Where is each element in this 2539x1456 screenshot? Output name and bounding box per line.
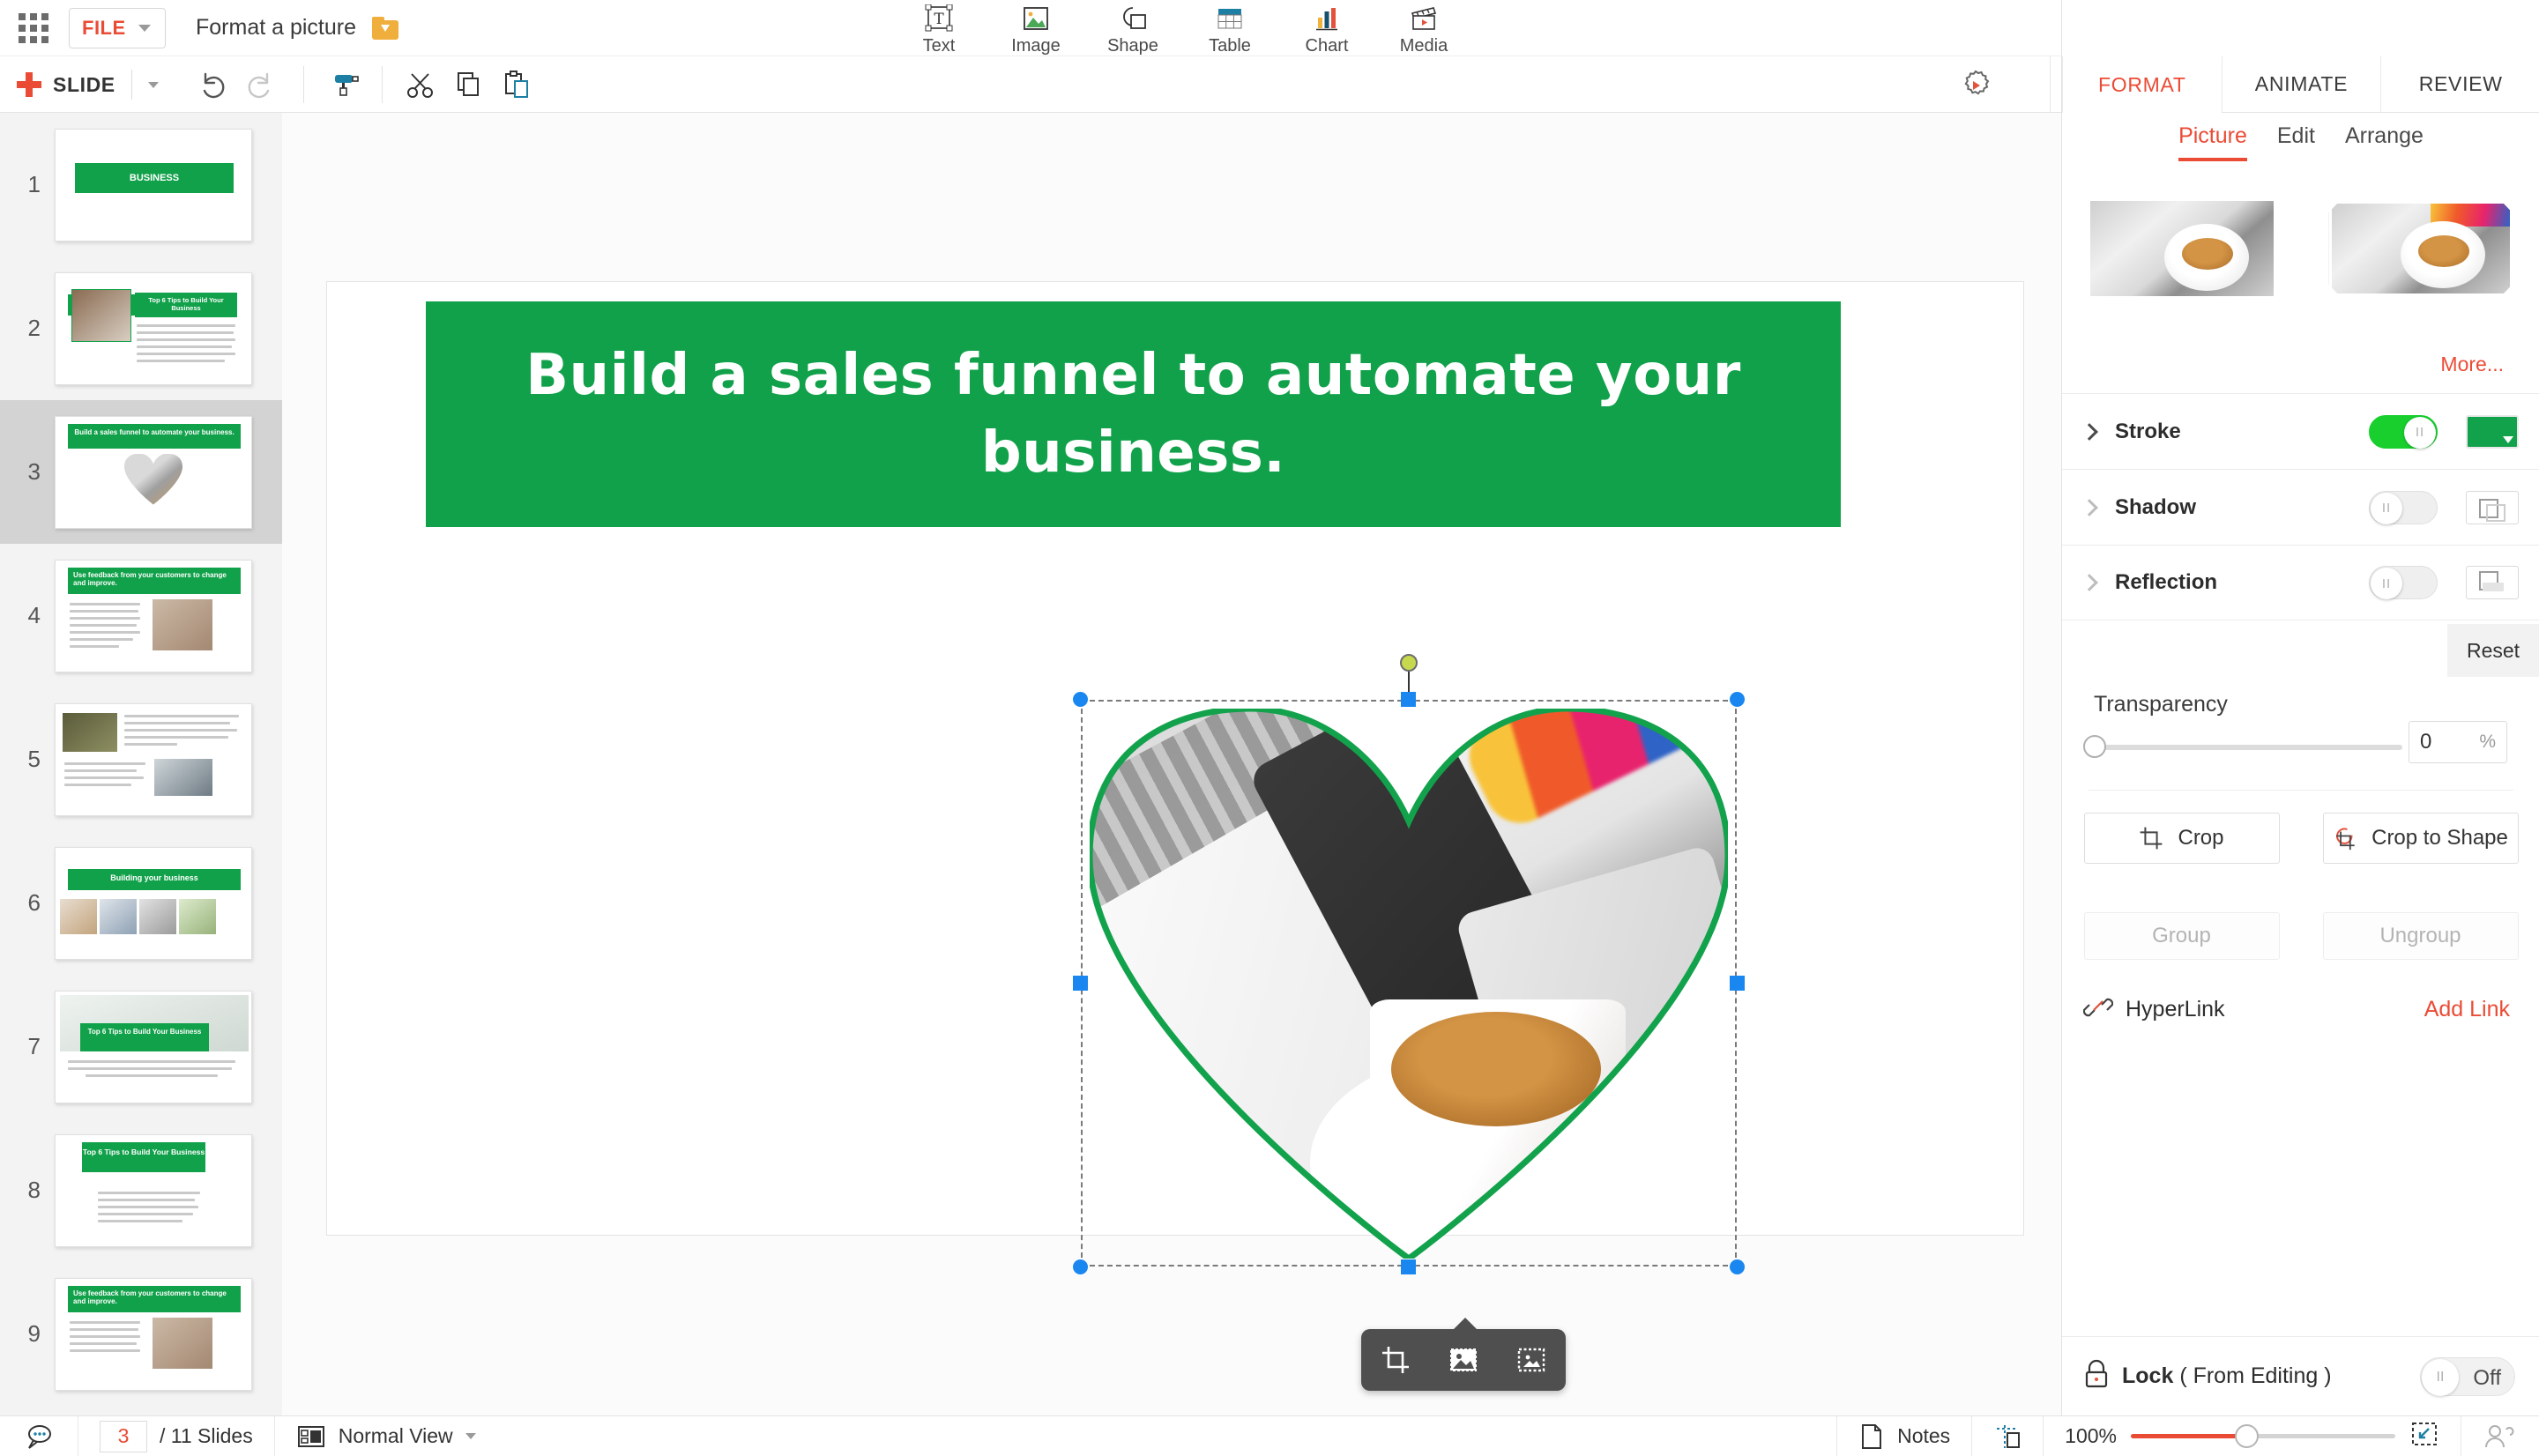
insert-media-tool[interactable]: Media [1375,0,1472,56]
divider [303,66,304,103]
ungroup-button[interactable]: Ungroup [2323,912,2519,960]
page-indicator: 3 / 11 Slides [78,1416,274,1456]
transparency-slider[interactable] [2094,745,2402,750]
insert-shape-label: Shape [1107,36,1158,56]
notes-page-icon [1858,1423,1885,1451]
add-slide-button[interactable]: SLIDE [16,71,115,98]
slide-thumbnail[interactable]: Use feedback from your customers to chan… [55,1278,252,1391]
subtab-arrange[interactable]: Arrange [2345,123,2424,161]
fit-to-screen-icon[interactable] [2409,1420,2439,1452]
effect-row-stroke[interactable]: Stroke [2062,393,2539,469]
undo-icon [197,70,228,100]
more-presets-link[interactable]: More... [2440,353,2504,376]
resize-handle-top-center[interactable] [1401,692,1416,707]
slide-thumbnail[interactable]: Use feedback from your customers to chan… [55,560,252,672]
reflection-toggle[interactable] [2369,566,2438,599]
current-page-field[interactable]: 3 [100,1421,147,1452]
view-mode-selector[interactable]: Normal View [275,1416,497,1456]
crop-to-shape-label: Crop to Shape [2371,826,2508,851]
shadow-label: Shadow [2115,495,2196,520]
tab-format[interactable]: FORMAT [2062,56,2222,113]
status-bar: 3 / 11 Slides Normal View Notes 100% [0,1415,2539,1456]
add-slide-label: SLIDE [53,73,115,97]
save-to-folder-icon[interactable] [372,17,398,40]
slide-thumb-4[interactable]: 4 Use feedback from your customers to ch… [0,544,282,687]
slide-thumb-2[interactable]: 2 Top 6 Tips to Build Your Business [0,256,282,400]
reset-button[interactable]: Reset [2447,624,2539,677]
add-link-button[interactable]: Add Link [2424,997,2510,1022]
crop-label: Crop [2178,826,2223,851]
file-menu-button[interactable]: FILE [69,8,166,48]
transparency-label: Transparency [2094,692,2228,717]
transparency-value: 0 [2420,730,2431,754]
slide-number: 8 [0,1177,55,1204]
subtab-edit[interactable]: Edit [2277,123,2315,161]
slide-thumb-6[interactable]: 6 Building your business [0,831,282,975]
stroke-toggle[interactable] [2369,415,2438,449]
group-buttons: Group Ungroup [2062,912,2539,960]
copy-button[interactable] [444,61,492,108]
insert-table-label: Table [1209,36,1251,56]
cut-button[interactable] [397,61,444,108]
notes-label: Notes [1897,1424,1950,1448]
text-box-icon: T [924,3,954,34]
insert-table-tool[interactable]: Table [1181,0,1278,56]
comments-icon [21,1422,56,1452]
picture-presets [2062,201,2539,296]
crop-to-shape-icon [2333,826,2357,851]
slide-thumb-9[interactable]: 9 Use feedback from your customers to ch… [0,1262,282,1406]
effect-row-shadow[interactable]: Shadow [2062,469,2539,545]
paste-button[interactable] [492,61,540,108]
slide-canvas-area: Build a sales funnel to automate your bu… [282,113,2061,1415]
grid-apps-icon[interactable] [18,12,49,44]
chevron-right-icon[interactable] [2081,574,2098,591]
slide-number: 6 [0,889,55,917]
insert-media-label: Media [1400,36,1448,56]
slide-thumbnail[interactable]: Building your business [55,847,252,960]
preset-grayscale[interactable] [2090,201,2274,296]
insert-chart-tool[interactable]: Chart [1278,0,1375,56]
thumb-title: BUSINESS [75,163,234,184]
table-icon [1215,3,1245,34]
tab-review-label: REVIEW [2419,72,2503,96]
insert-image-tool[interactable]: Image [987,0,1084,56]
thumb-title: Use feedback from your customers to chan… [68,568,241,589]
resize-handle-bottom-left[interactable] [1073,1259,1088,1274]
slide-number: 5 [0,746,55,773]
hyperlink-label: HyperLink [2126,997,2225,1022]
slide-options-chevron-down-icon[interactable] [148,82,159,88]
slide-number: 7 [0,1033,55,1060]
shape-icon [1117,3,1149,34]
crop-buttons: Crop Crop to Shape [2062,813,2539,864]
tab-animate[interactable]: ANIMATE [2222,56,2382,113]
tab-animate-label: ANIMATE [2255,72,2348,96]
thumb-title: Building your business [68,869,241,883]
slide-thumb-5[interactable]: 5 [0,687,282,831]
slide-thumbnail[interactable]: Build a sales funnel to automate your bu… [55,416,252,529]
image-icon [1021,3,1051,34]
thumb-title: Top 6 Tips to Build Your Business [135,293,237,312]
undo-button[interactable] [189,61,236,108]
lock-state: Off [2473,1366,2501,1391]
chevron-right-icon[interactable] [2081,499,2098,516]
slide-thumbnail[interactable] [55,703,252,816]
group-button[interactable]: Group [2084,912,2280,960]
panel-tabs: FORMAT ANIMATE REVIEW [2062,56,2539,113]
svg-text:T: T [934,11,944,28]
notes-button[interactable]: Notes [1837,1416,1971,1456]
format-side-panel: FORMAT ANIMATE REVIEW Picture Edit Arran… [2061,0,2539,1456]
shadow-style-swatch[interactable] [2466,491,2519,524]
slide-title-box[interactable]: Build a sales funnel to automate your bu… [426,301,1841,527]
hyperlink-icon [2083,994,2113,1025]
shadow-toggle[interactable] [2369,491,2438,524]
view-mode-label: Normal View [339,1424,453,1448]
preset-color-shaped[interactable] [2329,201,2513,296]
image-placeholder-icon[interactable] [1509,1338,1553,1382]
slide-thumb-3[interactable]: 3 Build a sales funnel to automate your … [0,400,282,544]
slide-number: 3 [0,458,55,486]
lock-label-main: Lock [2122,1363,2173,1388]
reflection-label: Reflection [2115,570,2217,595]
resize-handle-middle-left[interactable] [1073,976,1088,991]
replace-image-icon[interactable] [1441,1338,1485,1382]
media-clapperboard-icon [1409,3,1439,34]
crop-icon [2139,826,2163,851]
slide-thumbnail[interactable]: Top 6 Tips to Build Your Business [55,991,252,1103]
crop-button[interactable]: Crop [2084,813,2280,864]
resize-handle-top-right[interactable] [1730,692,1745,707]
document-title: Format a picture [196,15,356,41]
thumb-heart-image [124,454,182,505]
comments-button[interactable] [0,1416,78,1456]
bar-chart-icon [1312,3,1342,34]
chevron-down-icon[interactable] [465,1433,476,1439]
panel-subtabs: Picture Edit Arrange [2062,123,2539,161]
collaborators-button[interactable] [2461,1416,2539,1456]
slide-number: 2 [0,315,55,342]
lock-icon [2081,1358,2111,1394]
collaborators-icon [2483,1423,2518,1451]
slide-thumb-8[interactable]: 8 Top 6 Tips to Build Your Business [0,1118,282,1262]
tab-format-label: FORMAT [2098,73,2186,97]
transparency-value-field[interactable]: 0 % [2409,721,2507,763]
image-context-toolbar [1361,1329,1566,1391]
chevron-right-icon[interactable] [2081,423,2098,441]
rotate-handle[interactable] [1400,654,1418,672]
paste-icon [500,70,532,100]
copy-icon [452,70,484,100]
insert-chart-label: Chart [1306,36,1349,56]
thumb-title: Top 6 Tips to Build Your Business [82,1142,205,1156]
play-settings-gear-icon [1956,66,1995,105]
zoom-control[interactable]: 100% [2044,1416,2461,1456]
resize-handle-bottom-center[interactable] [1401,1259,1416,1274]
lock-row: Lock ( From Editing ) Off [2062,1336,2539,1415]
guides-button[interactable] [1972,1416,2043,1456]
resize-handle-bottom-right[interactable] [1730,1259,1745,1274]
resize-handle-middle-right[interactable] [1730,976,1745,991]
thumb-title: Build a sales funnel to automate your bu… [68,424,241,437]
redo-button[interactable] [236,61,284,108]
insert-toolbar: T Text Image Shape Table [890,0,1472,56]
subtab-picture[interactable]: Picture [2178,123,2247,161]
slide-thumb-7[interactable]: 7 Top 6 Tips to Build Your Business [0,975,282,1118]
thumb-title: Top 6 Tips to Build Your Business [80,1023,209,1036]
redo-icon [244,70,276,100]
stroke-label: Stroke [2115,420,2181,444]
insert-shape-tool[interactable]: Shape [1084,0,1181,56]
slide-number: 1 [0,171,55,198]
slide-title-text: Build a sales funnel to automate your bu… [508,337,1760,493]
normal-view-icon [296,1423,326,1450]
file-menu-label: FILE [82,17,126,40]
resize-handle-top-left[interactable] [1073,692,1088,707]
divider [131,70,132,100]
ruler-guides-icon [1993,1423,2022,1451]
stroke-color-swatch[interactable] [2466,415,2519,449]
slide-thumbnail[interactable]: Top 6 Tips to Build Your Business [55,272,252,385]
zoom-slider[interactable] [2131,1434,2395,1438]
slide-thumbnail[interactable]: Top 6 Tips to Build Your Business [55,1134,252,1247]
percent-unit: % [2479,732,2496,753]
presentation-editor: FILE Format a picture T Text Image [0,0,2539,1456]
slide-thumbnail[interactable]: BUSINESS [55,129,252,241]
format-painter-button[interactable] [322,61,369,108]
lock-label: Lock ( From Editing ) [2122,1363,2332,1389]
slide-number: 4 [0,602,55,629]
insert-image-label: Image [1011,36,1061,56]
thumb-title: Use feedback from your customers to chan… [68,1286,241,1307]
scissors-cut-icon [405,70,436,100]
insert-text-label: Text [923,36,956,56]
plus-icon [16,71,42,98]
format-painter-icon [330,70,361,100]
slide-thumb-1[interactable]: 1 BUSINESS [0,113,282,256]
crop-to-shape-button[interactable]: Crop to Shape [2323,813,2519,864]
zoom-level-label: 100% [2065,1424,2117,1448]
insert-text-tool[interactable]: T Text [890,0,987,56]
divider [382,66,383,103]
effect-row-reflection[interactable]: Reflection [2062,545,2539,620]
tab-review[interactable]: REVIEW [2381,56,2539,113]
reflection-style-swatch[interactable] [2466,566,2519,599]
page-total-label: / 11 Slides [160,1424,253,1448]
lock-toggle[interactable]: Off [2420,1357,2515,1396]
selection-bounding-box[interactable] [1081,700,1737,1267]
slide-number: 9 [0,1320,55,1348]
play-settings-button[interactable] [1952,62,1999,109]
lock-label-sub: ( From Editing ) [2179,1363,2331,1388]
crop-icon[interactable] [1374,1338,1418,1382]
chevron-down-icon [138,25,151,32]
slides-panel[interactable]: 1 BUSINESS 2 Top 6 Tips to Build Your Bu… [0,113,282,1415]
hyperlink-row: HyperLink Add Link [2062,978,2539,1040]
